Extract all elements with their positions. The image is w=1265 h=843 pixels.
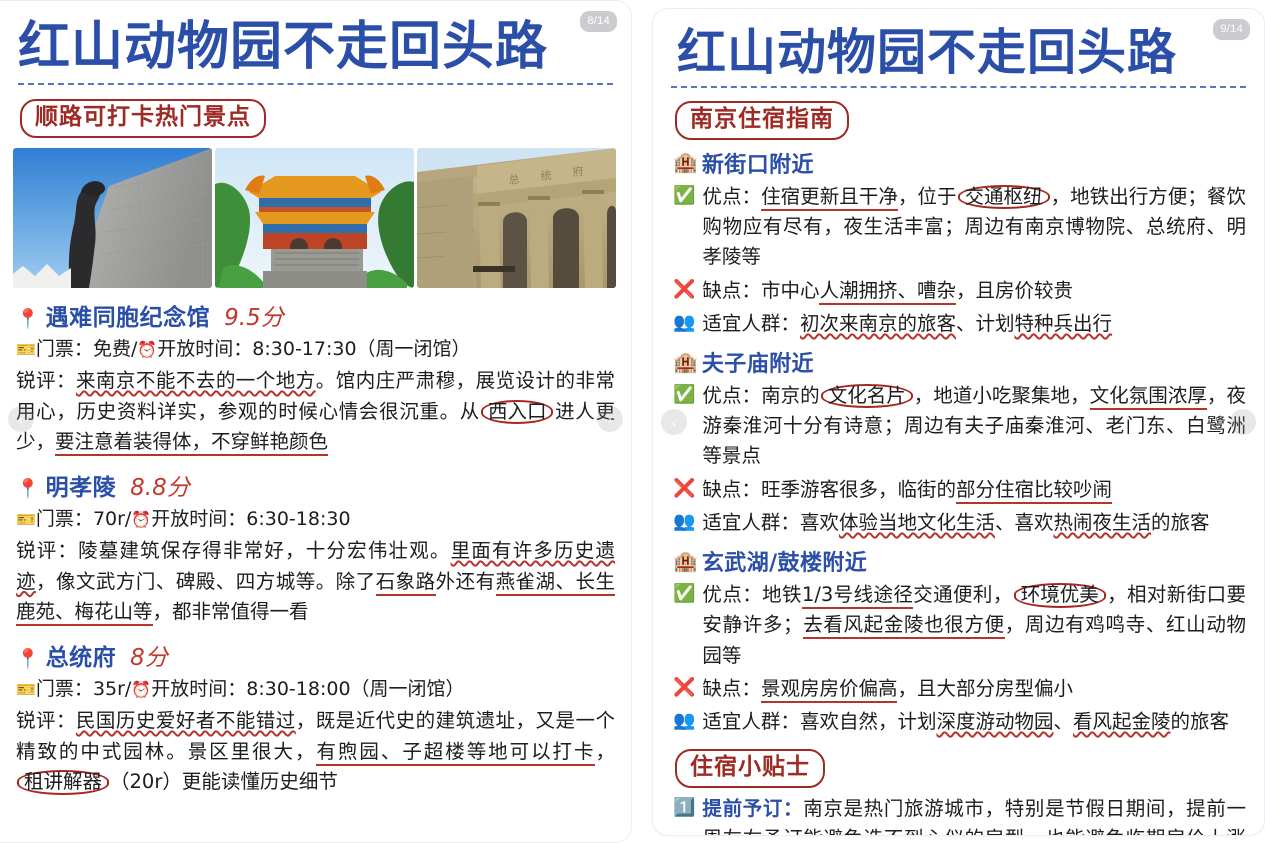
spot-review: 锐评：民国历史爱好者不能错过，既是近代史的建筑遗址，又是一个精致的中式园林。景区…: [16, 706, 615, 798]
row-text: 适宜人群：喜欢自然，计划深度游动物园、看风起金陵的旅客: [702, 707, 1229, 737]
annotated-text: 环境优美: [1014, 583, 1106, 607]
chevron-right-icon: ›: [1241, 415, 1246, 429]
area-name: 夫子庙附近: [702, 346, 814, 378]
ticket-label: 门票：: [36, 508, 93, 530]
annotated-text: ，: [595, 740, 615, 763]
row-label: 优点：: [702, 185, 761, 208]
hours-value: 8:30-18:00（周一闭馆）: [246, 678, 464, 700]
carousel-prev-button-left[interactable]: ‹: [8, 406, 34, 432]
annotated-text: 民国历史爱好者不能错过: [76, 709, 296, 732]
spot-item: 📍总统府8分🎫门票：35r/⏰开放时间：8:30-18:00（周一闭馆）锐评：民…: [16, 638, 615, 798]
annotated-text: （20r）更能读懂历史细节: [110, 770, 338, 793]
people-icon: 👥: [673, 707, 695, 735]
people-icon: 👥: [673, 309, 695, 337]
area-detail-row: 👥适宜人群：喜欢自然，计划深度游动物园、看风起金陵的旅客: [673, 707, 1246, 737]
tip-row: 1️⃣提前予订：南京是热门旅游城市，特别是节假日期间，提前一周左右予订能避免选不…: [673, 794, 1246, 836]
spot-meta-line: 🎫门票：免费/⏰开放时间：8:30-17:30（周一闭馆）: [16, 337, 615, 363]
annotated-text: 租讲解器: [17, 770, 109, 794]
hotel-icon: 🏨: [673, 549, 698, 574]
row-label: 适宜人群：: [702, 312, 800, 335]
cross-mark-icon: ❌: [673, 674, 695, 702]
hours-label: 开放时间：: [157, 338, 252, 360]
dot: [280, 822, 286, 828]
alarm-clock-icon: ⏰: [131, 680, 151, 699]
right-title-row: 红山动物园不走回头路 9/14: [653, 9, 1264, 80]
left-section-pill-wrap: 顺路可打卡热门景点: [20, 99, 631, 138]
annotated-text: 看风起金陵: [1073, 710, 1171, 733]
annotated-text: 人潮拥挤、嘈杂: [819, 279, 956, 305]
hotel-icon: 🏨: [673, 150, 698, 175]
row-label: 优点：: [702, 384, 761, 407]
area-detail-row: 👥适宜人群：初次来南京的旅客、计划特种兵出行: [673, 309, 1246, 339]
area-header: 🏨夫子庙附近: [673, 346, 1264, 378]
area-detail-row: ❌缺点：景观房房价偏高，且大部分房型偏小: [673, 674, 1246, 704]
spot-meta-line: 🎫门票：35r/⏰开放时间：8:30-18:00（周一闭馆）: [16, 677, 615, 703]
annotated-text: ，都非常值得一看: [153, 600, 309, 623]
spot-header: 📍遇难同胞纪念馆9.5分: [16, 298, 615, 332]
dot: [293, 822, 299, 828]
left-title-row: 红山动物园不走回头路 8/14: [0, 1, 631, 75]
annotated-text: 文化名片: [821, 384, 913, 408]
hotel-icon: 🏨: [673, 350, 698, 375]
carousel-next-button-left[interactable]: ›: [597, 406, 623, 432]
annotated-text: 的旅客: [1171, 710, 1230, 733]
tips-list: 1️⃣提前予订：南京是热门旅游城市，特别是节假日期间，提前一周左右予订能避免选不…: [653, 794, 1264, 836]
spot-review: 锐评：来南京不能不去的一个地方。馆内庄严肃穆，展览设计的非常用心，历史资料详实，…: [16, 366, 615, 458]
annotated-text: 喜欢自然，计划: [800, 710, 937, 733]
area-detail-row: ❌缺点：旺季游客很多，临街的部分住宿比较吵闹: [673, 475, 1246, 505]
row-text: 适宜人群：初次来南京的旅客、计划特种兵出行: [702, 309, 1112, 339]
row-text: 缺点：景观房房价偏高，且大部分房型偏小: [702, 674, 1073, 704]
annotated-text: 避免选不到心仪的房型: [823, 827, 1025, 836]
annotated-text: ，且大部分房型偏小: [897, 677, 1073, 700]
ticket-label: 门票：: [36, 678, 93, 700]
page-counter-badge: 9/14: [1213, 19, 1250, 40]
section-heading-pill: 顺路可打卡热门景点: [20, 99, 266, 138]
photo-gallery: 总 统 府: [13, 148, 618, 288]
page-title: 红山动物园不走回头路: [671, 27, 1246, 80]
spot-name: 明孝陵: [46, 468, 117, 502]
area-header: 🏨玄武湖/鼓楼附近: [673, 545, 1264, 577]
annotated-text: 交通便利，: [913, 583, 1012, 606]
spot-header: 📍总统府8分: [16, 638, 615, 672]
annotated-text: ，地道小吃聚集地，: [914, 384, 1090, 407]
annotated-text: 地铁: [762, 583, 802, 606]
alarm-clock-icon: ⏰: [131, 510, 151, 529]
annotated-text: 文化氛围浓厚: [1090, 384, 1207, 410]
check-mark-icon: ✅: [673, 182, 695, 210]
annotated-text: 外还有: [436, 570, 496, 593]
row-label: 适宜人群：: [702, 710, 800, 733]
annotated-text: ，像文武方门、碑殿、四方城等。除了: [36, 570, 376, 593]
spot-score: 8分: [130, 638, 168, 672]
annotated-text: 、: [1053, 710, 1073, 733]
svg-text:总: 总: [508, 172, 520, 187]
row-text: 适宜人群：喜欢体验当地文化生活、喜欢热闹夜生活的旅客: [702, 508, 1209, 538]
alarm-clock-icon: ⏰: [137, 340, 157, 359]
svg-text:府: 府: [572, 164, 584, 179]
annotated-text: 交通枢纽: [958, 185, 1050, 209]
row-text: 缺点：旺季游客很多，临街的部分住宿比较吵闹: [702, 475, 1112, 505]
row-label: 缺点：: [702, 677, 761, 700]
annotated-text: 住宿更新且干净: [761, 185, 898, 211]
annotated-text: 去看风起金陵也很方便: [803, 613, 1005, 639]
annotated-text: 石象路: [376, 570, 436, 596]
annotated-text: 部分住宿比较吵闹: [956, 478, 1112, 504]
spot-item: 📍明孝陵8.8分🎫门票：70r/⏰开放时间：6:30-18:30锐评：陵墓建筑保…: [16, 468, 615, 628]
row-label: 适宜人群：: [702, 511, 800, 534]
area-detail-row: ✅优点：住宿更新且干净，位于交通枢纽，地铁出行方便；餐饮购物应有尽有，夜生活丰富…: [673, 182, 1246, 273]
area-detail-row: ✅优点：南京的文化名片，地道小吃聚集地，文化氛围浓厚，夜游秦淮河十分有诗意；周边…: [673, 381, 1246, 472]
spot-name: 总统府: [46, 638, 117, 672]
check-mark-icon: ✅: [673, 381, 695, 409]
right-section-pill-wrap: 南京住宿指南: [675, 101, 1264, 140]
carousel-dots: [0, 822, 631, 828]
carousel-stage: 红山动物园不走回头路 8/14 顺路可打卡热门景点: [0, 0, 1265, 843]
title-divider: [671, 86, 1246, 88]
spot-item: 📍遇难同胞纪念馆9.5分🎫门票：免费/⏰开放时间：8:30-17:30（周一闭馆…: [16, 298, 615, 458]
review-label: 锐评：: [16, 539, 78, 562]
dot: [332, 822, 338, 828]
area-header: 🏨新街口附近: [673, 147, 1264, 179]
chevron-right-icon: ›: [608, 412, 613, 426]
cross-mark-icon: ❌: [673, 276, 695, 304]
page-counter-badge: 8/14: [580, 11, 617, 32]
annotated-text: ，且房价较贵: [956, 279, 1073, 302]
spot-review: 锐评：陵墓建筑保存得非常好，十分宏伟壮观。里面有许多历史遗迹，像文武方门、碑殿、…: [16, 536, 615, 628]
annotated-text: 南京的: [761, 384, 820, 407]
annotated-text: 市中心: [761, 279, 820, 302]
ticket-icon: 🎫: [16, 340, 36, 359]
spot-list: 📍遇难同胞纪念馆9.5分🎫门票：免费/⏰开放时间：8:30-17:30（周一闭馆…: [0, 298, 631, 798]
tip-text: 提前予订：南京是热门旅游城市，特别是节假日期间，提前一周左右予订能避免选不到心仪…: [702, 794, 1246, 836]
annotated-text: 、喜欢: [995, 511, 1054, 534]
annotated-text: 西入口: [481, 400, 554, 424]
annotated-text: 陵墓建筑保存得非常好，十分宏伟壮观。: [78, 539, 451, 562]
row-label: 缺点：: [702, 478, 761, 501]
area-detail-row: ✅优点：地铁1/3号线途径交通便利，环境优美，相对新街口要安静许多；去看风起金陵…: [673, 580, 1246, 671]
carousel-next-button-right[interactable]: ›: [1230, 409, 1256, 435]
dot: [306, 822, 312, 828]
annotated-text: 深度游动物园: [936, 710, 1053, 733]
chevron-left-icon: ‹: [19, 412, 24, 426]
annotated-text: 特种兵出行: [1014, 312, 1112, 335]
ticket-value: 免费/: [93, 338, 137, 360]
spot-header: 📍明孝陵8.8分: [16, 468, 615, 502]
slide-card-right: 红山动物园不走回头路 9/14 南京住宿指南 🏨新街口附近✅优点：住宿更新且干净…: [652, 8, 1265, 836]
tips-heading-pill: 住宿小贴士: [675, 749, 825, 788]
chevron-left-icon: ‹: [672, 415, 677, 429]
ticket-value: 70r/: [93, 508, 131, 530]
area-detail-row: 👥适宜人群：喜欢体验当地文化生活、喜欢热闹夜生活的旅客: [673, 508, 1246, 538]
check-mark-icon: ✅: [673, 580, 695, 608]
page-title: 红山动物园不走回头路: [18, 19, 613, 75]
keycap-number-icon: 1️⃣: [673, 794, 695, 822]
annotated-text: 初次来南京的旅客: [800, 312, 956, 335]
spot-score: 9.5分: [224, 298, 284, 332]
review-label: 锐评：: [16, 369, 76, 392]
annotated-text: 要注意着装得体，不穿鲜艳颜色: [55, 430, 328, 456]
annotated-text: 的旅客: [1151, 511, 1210, 534]
spot-name: 遇难同胞纪念馆: [46, 298, 211, 332]
tip-key: 提前予订：: [702, 797, 803, 820]
annotated-text: 景观房房价偏高: [761, 677, 898, 703]
hours-label: 开放时间：: [151, 678, 246, 700]
tips-pill-wrap: 住宿小贴士: [675, 749, 1264, 788]
people-icon: 👥: [673, 508, 695, 536]
photo-memorial-statue[interactable]: [13, 148, 212, 288]
ticket-icon: 🎫: [16, 680, 36, 699]
carousel-prev-button-right[interactable]: ‹: [661, 409, 687, 435]
area-name: 新街口附近: [702, 147, 814, 179]
hours-value: 8:30-17:30（周一闭馆）: [252, 338, 470, 360]
annotated-text: 旺季游客很多，临街的: [761, 478, 956, 501]
annotated-text: 有煦园、子超楼等地可以打卡: [316, 740, 595, 766]
annotated-text: 1/3号线途径: [802, 583, 913, 609]
location-pin-icon: 📍: [16, 650, 40, 669]
annotated-text: 、计划: [956, 312, 1015, 335]
svg-text:统: 统: [540, 169, 552, 183]
hours-value: 6:30-18:30: [246, 508, 350, 530]
row-text: 优点：住宿更新且干净，位于交通枢纽，地铁出行方便；餐饮购物应有尽有，夜生活丰富；…: [702, 182, 1246, 273]
ticket-icon: 🎫: [16, 510, 36, 529]
annotated-text: 喜欢: [800, 511, 839, 534]
title-divider: [18, 83, 613, 85]
annotated-text: ，也能: [1025, 827, 1085, 836]
annotated-text: 热闹夜生活: [1053, 511, 1151, 534]
photo-ming-xiaoling[interactable]: [215, 148, 414, 288]
cross-mark-icon: ❌: [673, 475, 695, 503]
row-text: 缺点：市中心人潮拥挤、嘈杂，且房价较贵: [702, 276, 1073, 306]
slide-card-left: 红山动物园不走回头路 8/14 顺路可打卡热门景点: [0, 0, 632, 843]
row-text: 优点：南京的文化名片，地道小吃聚集地，文化氛围浓厚，夜游秦淮河十分有诗意；周边有…: [702, 381, 1246, 472]
area-name: 玄武湖/鼓楼附近: [702, 545, 867, 577]
hours-label: 开放时间：: [151, 508, 246, 530]
annotated-text: ，位于: [898, 185, 957, 208]
row-label: 缺点：: [702, 279, 761, 302]
annotated-text: 体验当地文化生活: [839, 511, 995, 534]
spot-meta-line: 🎫门票：70r/⏰开放时间：6:30-18:30: [16, 507, 615, 533]
row-text: 优点：地铁1/3号线途径交通便利，环境优美，相对新街口要安静许多；去看风起金陵也…: [702, 580, 1246, 671]
ticket-value: 35r/: [93, 678, 131, 700]
annotated-text: 来南京不能不去的一个地方: [76, 369, 316, 392]
location-pin-icon: 📍: [16, 480, 40, 499]
spot-score: 8.8分: [130, 468, 190, 502]
location-pin-icon: 📍: [16, 310, 40, 329]
ticket-label: 门票：: [36, 338, 93, 360]
dot: [319, 822, 325, 828]
photo-presidential-palace[interactable]: 总 统 府: [417, 148, 616, 288]
dot: [345, 822, 351, 828]
row-label: 优点：: [702, 583, 762, 606]
section-heading-pill: 南京住宿指南: [675, 101, 849, 140]
area-detail-row: ❌缺点：市中心人潮拥挤、嘈杂，且房价较贵: [673, 276, 1246, 306]
review-label: 锐评：: [16, 709, 76, 732]
lodging-area-list: 🏨新街口附近✅优点：住宿更新且干净，位于交通枢纽，地铁出行方便；餐饮购物应有尽有…: [653, 147, 1264, 737]
